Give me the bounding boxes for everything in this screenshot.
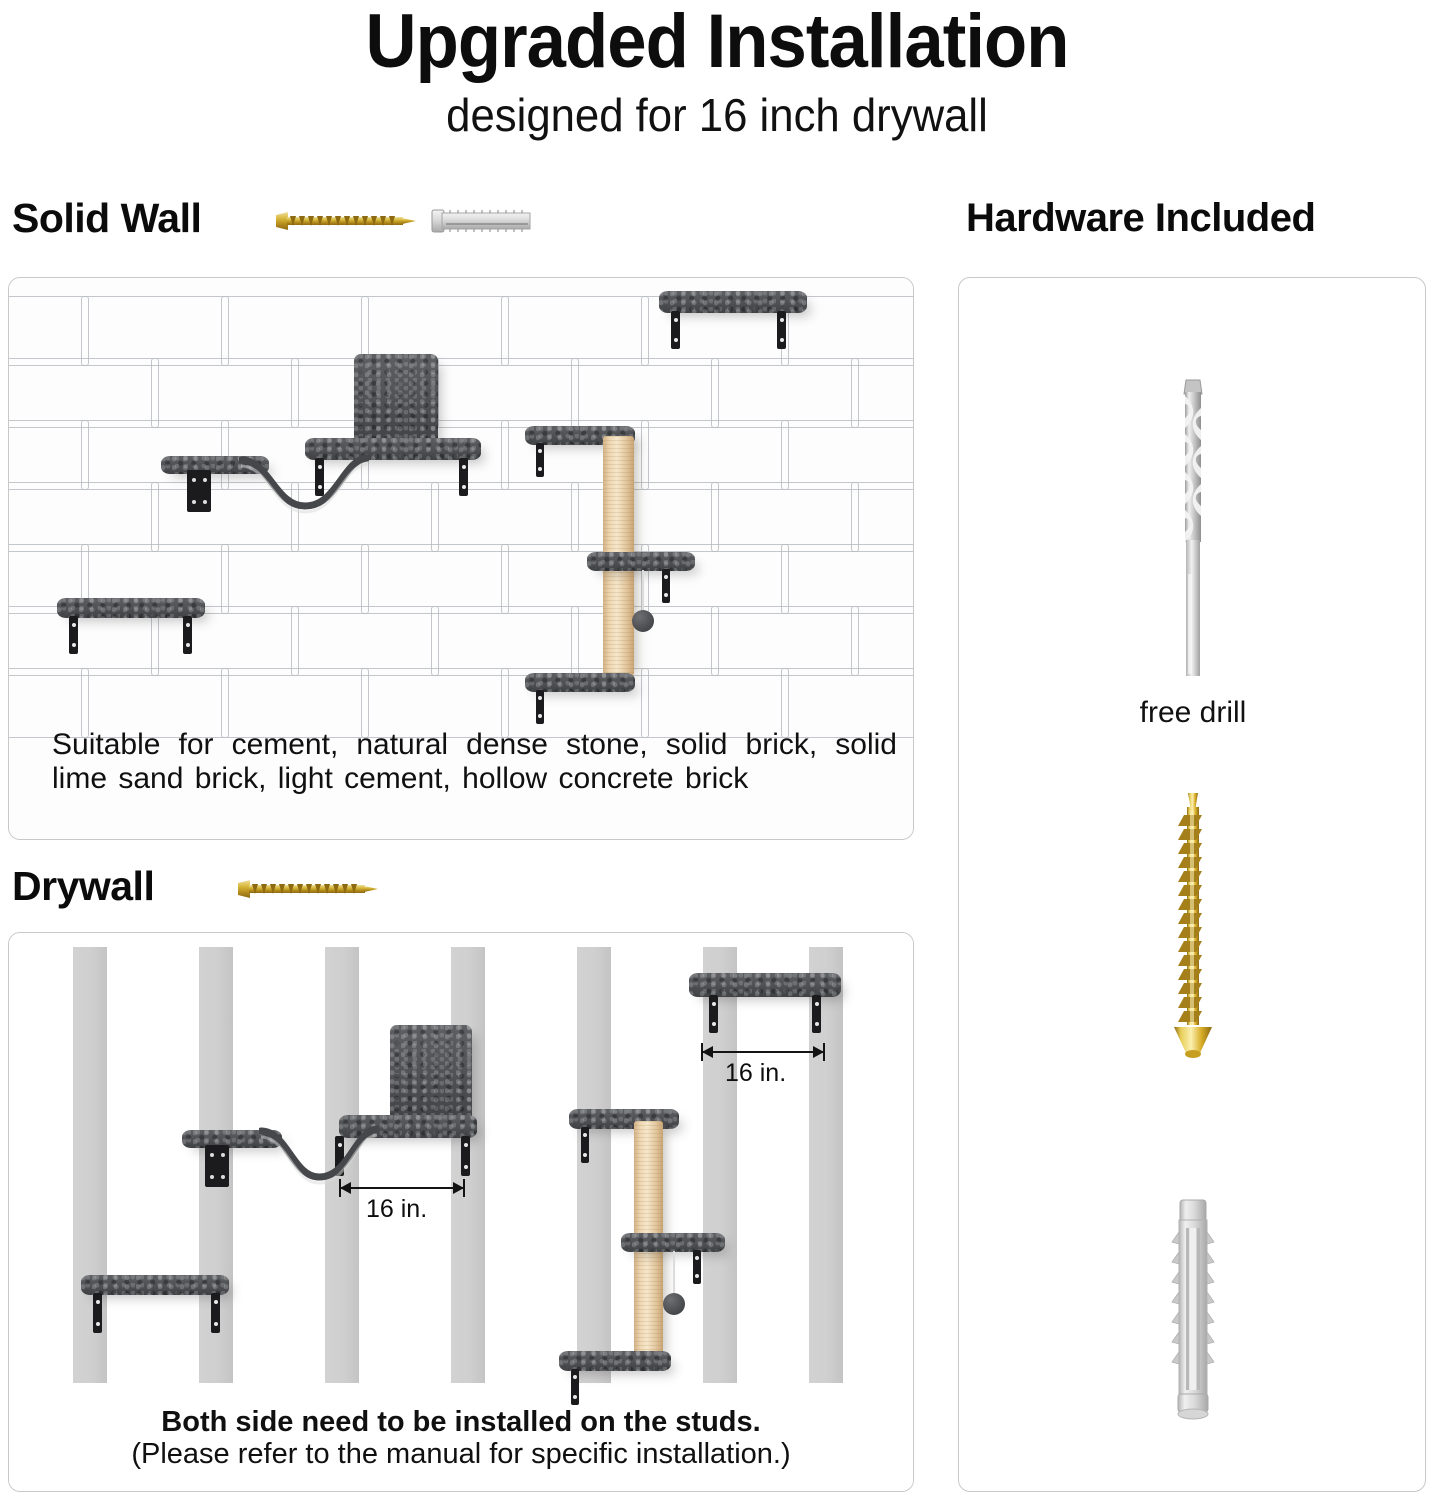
post-shelf-bracket	[536, 690, 544, 724]
dimension-line	[339, 1187, 465, 1189]
shelf-bracket	[812, 995, 821, 1033]
drywall-caption: Both side need to be installed on the st…	[24, 1406, 898, 1471]
cat-perch-back	[354, 354, 438, 446]
hardware-panel: free drill	[958, 277, 1426, 1492]
shelf-bracket	[69, 616, 78, 654]
toy-string	[642, 570, 644, 612]
post-shelf-bracket	[693, 1250, 701, 1284]
perch-bracket	[461, 1136, 470, 1176]
cat-perch-back	[390, 1025, 472, 1125]
shelf-mount-plate	[205, 1145, 229, 1187]
wall-anchor-icon	[428, 204, 538, 238]
drywall-heading: Drywall	[12, 863, 154, 910]
dimension-arrow-left	[702, 1046, 713, 1058]
post-shelf-bracket	[662, 569, 670, 603]
gold-screw-icon	[232, 876, 382, 902]
page-title: Upgraded Installation	[50, 0, 1384, 85]
hardware-heading: Hardware Included	[966, 196, 1315, 241]
shelf-bracket	[211, 1293, 220, 1333]
hanging-ball-toy	[632, 610, 654, 632]
drywall-caption-note: (Please refer to the manual for specific…	[24, 1438, 898, 1470]
masonry-drill-bit-icon	[1164, 378, 1222, 678]
dimension-line	[701, 1051, 825, 1053]
lower-left-shelf	[81, 1275, 229, 1295]
gold-screw-icon	[272, 208, 418, 234]
wall-shelf	[659, 291, 807, 313]
solid-wall-caption: Suitable for cement, natural dense stone…	[52, 728, 897, 795]
toy-string	[673, 1251, 675, 1295]
wall-stud	[577, 947, 611, 1383]
shelf-mount-plate	[187, 470, 211, 512]
cat-ramp	[259, 1125, 379, 1187]
shelf-bracket	[671, 311, 680, 349]
lower-left-shelf	[57, 598, 205, 618]
post-mid-shelf	[621, 1233, 725, 1252]
shelf-bracket	[183, 616, 192, 654]
page-subtitle: designed for 16 inch drywall	[36, 88, 1398, 142]
perch-bracket	[459, 458, 468, 496]
post-shelf-bracket	[536, 443, 544, 477]
shelf-bracket	[777, 311, 786, 349]
wall-shelf	[689, 973, 841, 997]
post-mid-shelf	[587, 552, 695, 571]
cat-ramp	[239, 454, 369, 516]
post-shelf-bracket	[571, 1369, 579, 1405]
hanging-ball-toy	[663, 1293, 685, 1315]
dimension-label: 16 in.	[725, 1059, 786, 1088]
drywall-caption-bold: Both side need to be installed on the st…	[24, 1406, 898, 1438]
dimension-arrow-right	[813, 1046, 824, 1058]
solid-wall-heading: Solid Wall	[12, 195, 201, 242]
post-bottom-shelf	[559, 1351, 671, 1371]
dimension-arrow-right	[453, 1182, 464, 1194]
dimension-label: 16 in.	[366, 1195, 427, 1224]
shelf-bracket	[93, 1293, 102, 1333]
gold-screw-icon	[1162, 791, 1224, 1063]
shelf-bracket	[709, 995, 718, 1033]
hardware-item-label: free drill	[959, 696, 1426, 730]
post-shelf-bracket	[581, 1127, 589, 1163]
wall-anchor-icon	[1167, 1198, 1219, 1428]
infographic-page: Upgraded Installation designed for 16 in…	[0, 0, 1434, 1500]
